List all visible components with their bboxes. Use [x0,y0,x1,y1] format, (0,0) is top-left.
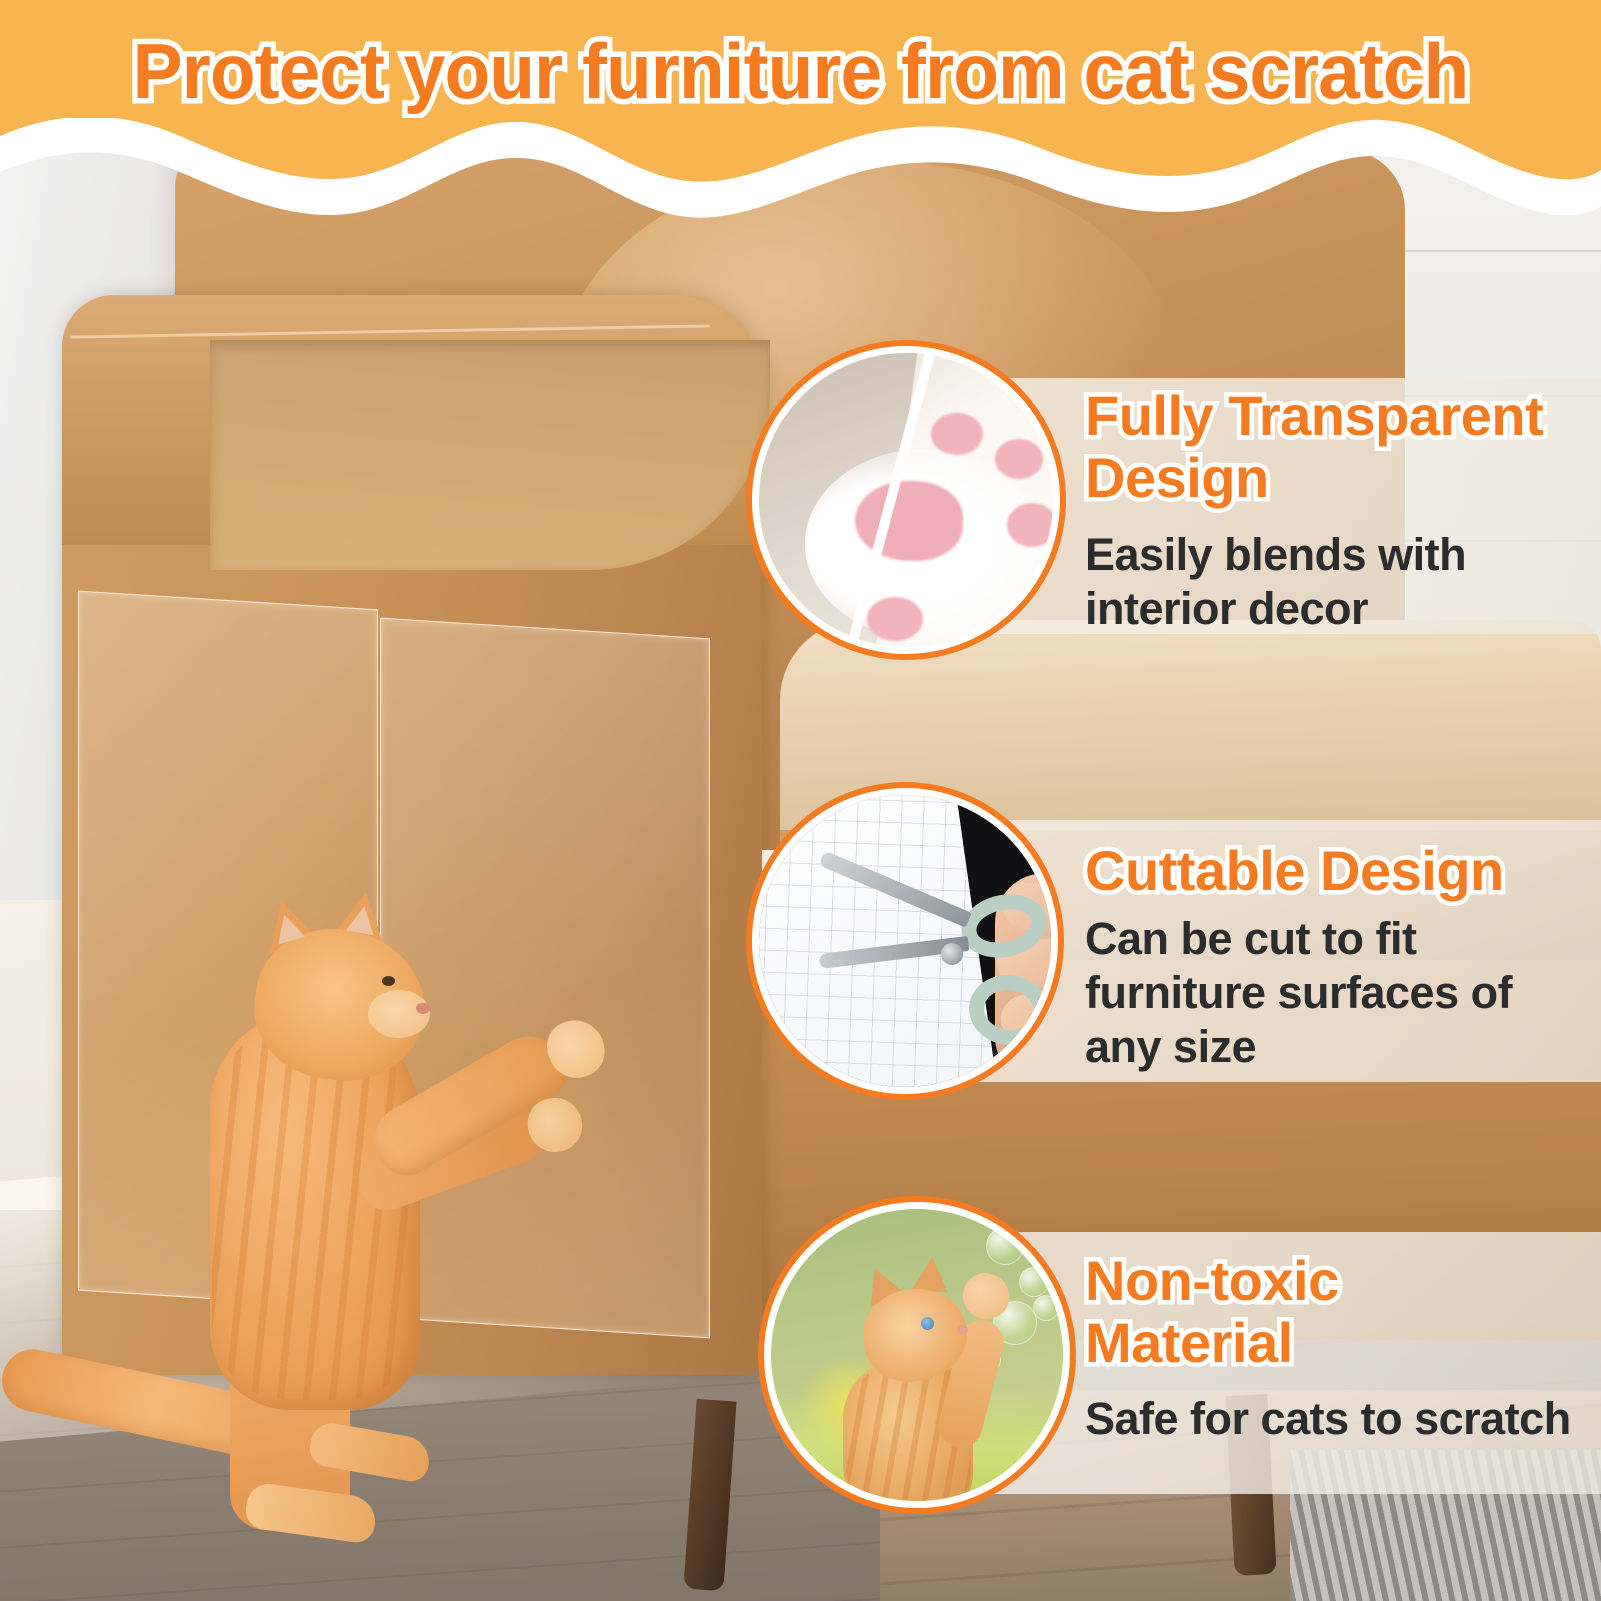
kitten-nose [416,1003,430,1014]
kitten-ear [912,1256,950,1292]
sofa-arm-scoop [210,340,770,570]
feature-subtitle-nontoxic: Safe for cats to scratch [1085,1392,1601,1446]
feature-subtitle-transparent: Easily blends with interior decor [1085,528,1555,636]
kitten-hind-foot [243,1481,378,1545]
wavy-divider-icon [0,118,1601,228]
scissors-pivot-screw [941,943,963,965]
feature-title-cuttable: Cuttable Design [1085,840,1601,902]
feature-title-nontoxic: Non-toxic Material [1085,1250,1515,1374]
feature-title-transparent: Fully Transparent Design [1085,385,1595,509]
feature-icon-circle-cuttable [746,782,1064,1100]
scissors-cutting-photo [759,795,1051,1087]
orange-tabby-kitten [150,870,530,1570]
kitten-muzzle [368,990,430,1038]
kitten-nose [957,1325,968,1334]
page-title: Protect your furniture from cat scratch [32,28,1569,114]
paw-main-pad [855,481,963,561]
kitten-eye [382,976,395,986]
feature-subtitle-cuttable: Can be cut to fit furniture surfaces of … [1085,912,1595,1074]
kitten-in-grass-photo [771,1209,1063,1501]
kitten-eye [921,1317,934,1330]
cat-paw-photo [759,353,1053,647]
feature-icon-circle-transparent [746,340,1066,660]
product-marketing-image: Protect your furniture from cat scratch [0,0,1601,1601]
kitten-inner-ear [346,904,378,935]
feature-icon-circle-nontoxic [758,1196,1076,1514]
